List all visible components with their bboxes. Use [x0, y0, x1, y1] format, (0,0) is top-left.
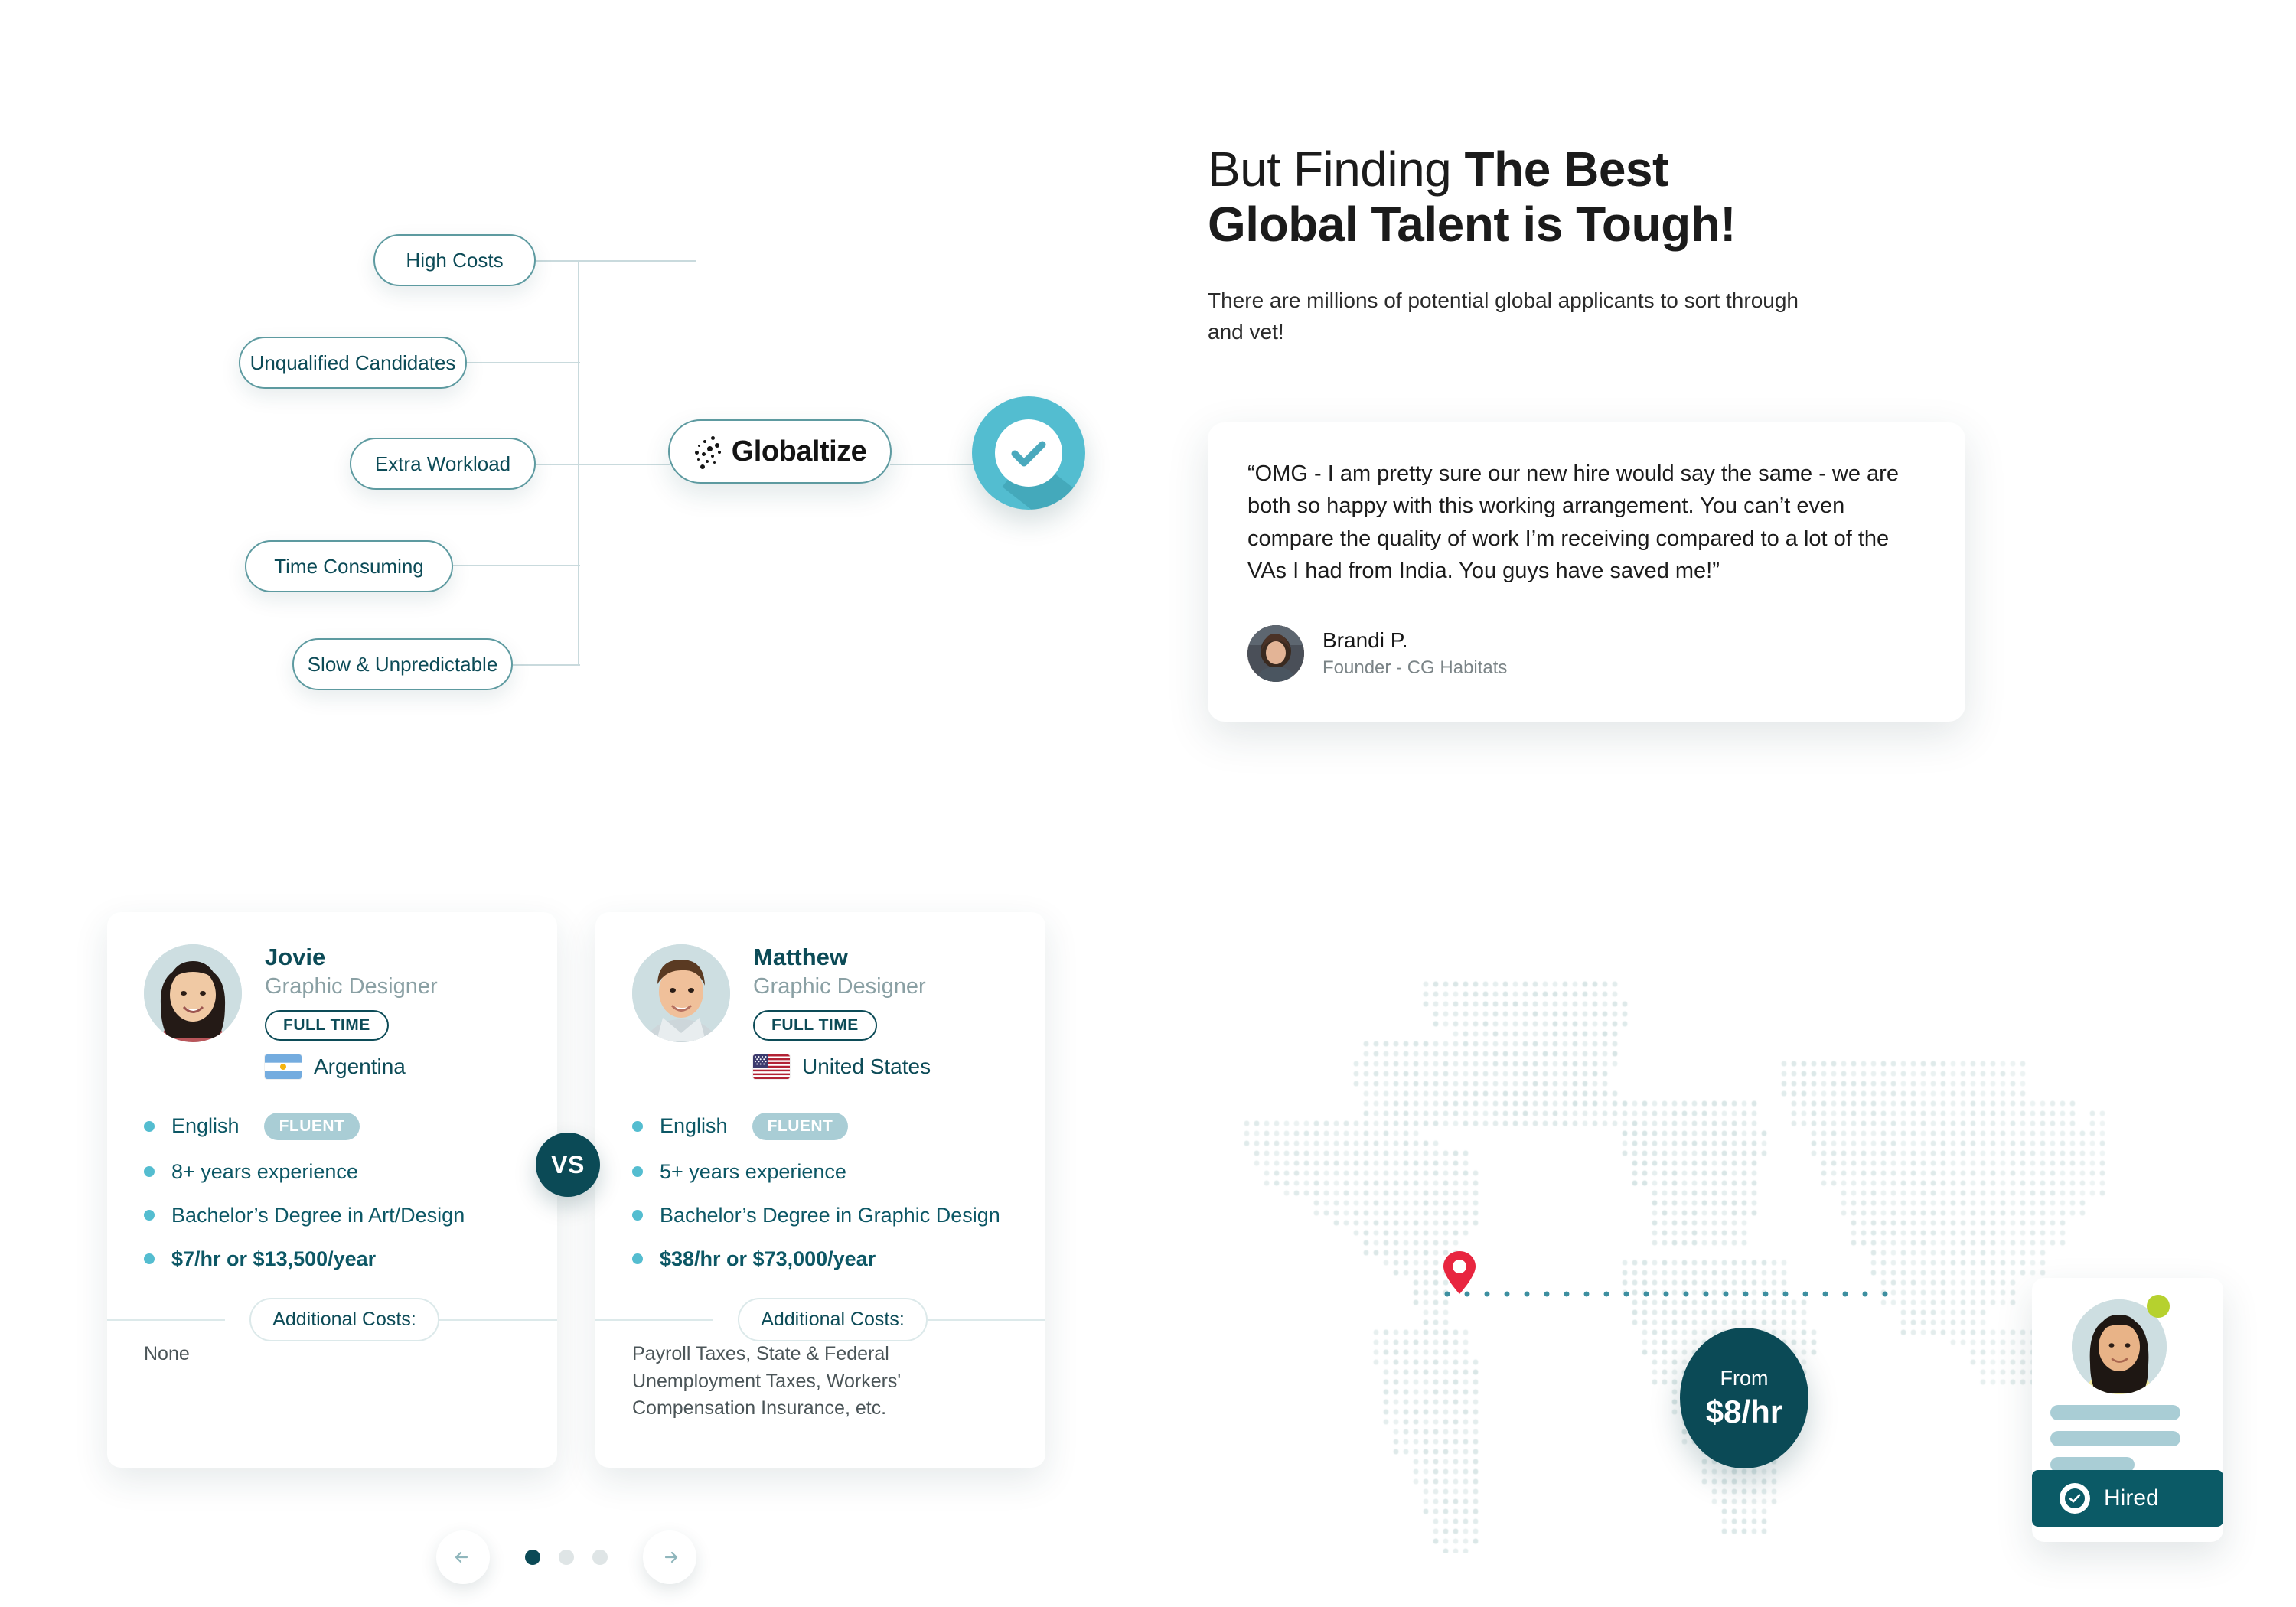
- list-item: $38/hr or $73,000/year: [632, 1247, 1045, 1271]
- hired-candidate-card[interactable]: Hired: [2032, 1278, 2223, 1542]
- page-title: But Finding The Best Global Talent is To…: [1208, 142, 1981, 252]
- additional-costs-divider: Additional Costs:: [595, 1298, 1045, 1341]
- price-from-label: From: [1720, 1367, 1769, 1390]
- dots-cluster-logo-icon: [693, 435, 724, 468]
- list-item: $7/hr or $13,500/year: [144, 1247, 557, 1271]
- employment-type-badge: FULL TIME: [265, 1010, 389, 1041]
- map-pin-icon: [1443, 1250, 1476, 1295]
- connector-line: [890, 464, 974, 465]
- carousel-dots: [525, 1550, 608, 1565]
- education-label: Bachelor’s Degree in Graphic Design: [660, 1204, 1000, 1227]
- bullet-dot-icon: [632, 1210, 643, 1221]
- connection-route-line: [1437, 1290, 1889, 1298]
- testimonial-author-name: Brandi P.: [1322, 628, 1507, 653]
- arrow-left-icon: [450, 1544, 476, 1570]
- versus-badge: VS: [536, 1133, 600, 1197]
- bullet-dot-icon: [632, 1121, 643, 1132]
- world-map-section: From $8/hr: [1194, 941, 2212, 1553]
- additional-costs-body: None: [144, 1341, 527, 1368]
- list-item: EnglishFLUENT: [632, 1113, 1045, 1140]
- problem-node-label: Time Consuming: [274, 555, 424, 579]
- candidate-card-matthew[interactable]: Matthew Graphic Designer FULL TIME: [595, 912, 1045, 1468]
- list-item: Bachelor’s Degree in Art/Design: [144, 1204, 557, 1227]
- problem-node-unqualified-candidates[interactable]: Unqualified Candidates: [239, 337, 467, 389]
- language-label: English: [171, 1114, 240, 1138]
- connector-line: [578, 260, 579, 664]
- connector-line: [513, 664, 580, 666]
- headline-subcopy: There are millions of potential global a…: [1208, 285, 1828, 347]
- flag-united-states-icon: [753, 1054, 790, 1079]
- avatar: [632, 944, 730, 1042]
- bullet-dot-icon: [144, 1166, 155, 1177]
- connector-line: [467, 362, 580, 363]
- hired-status-button[interactable]: Hired: [2032, 1470, 2223, 1527]
- bullet-dot-icon: [144, 1253, 155, 1264]
- connector-line: [536, 260, 696, 262]
- check-circle-icon: [2060, 1483, 2090, 1514]
- headline-bold-2: Global Talent is Tough!: [1208, 197, 1736, 252]
- connector-line: [536, 464, 670, 465]
- list-item: 8+ years experience: [144, 1160, 557, 1184]
- language-level-badge: FLUENT: [264, 1113, 360, 1140]
- headline-plain: But Finding: [1208, 142, 1465, 197]
- bullet-dot-icon: [632, 1166, 643, 1177]
- candidate-country: Argentina: [265, 1054, 438, 1079]
- placeholder-line: [2050, 1431, 2180, 1446]
- carousel-dot-3[interactable]: [592, 1550, 608, 1565]
- brand-node-globaltize[interactable]: Globaltize: [668, 419, 892, 484]
- candidate-role: Graphic Designer: [753, 975, 931, 999]
- problem-node-label: Slow & Unpredictable: [308, 653, 498, 676]
- additional-costs-badge: Additional Costs:: [738, 1298, 928, 1341]
- carousel-controls: [436, 1523, 696, 1592]
- headline-block: But Finding The Best Global Talent is To…: [1208, 142, 1981, 348]
- list-item: Bachelor’s Degree in Graphic Design: [632, 1204, 1045, 1227]
- candidate-header: Matthew Graphic Designer FULL TIME: [595, 912, 1045, 1079]
- problem-node-label: High Costs: [406, 249, 503, 272]
- connector-line: [453, 565, 580, 566]
- bullet-dot-icon: [144, 1121, 155, 1132]
- candidate-name: Matthew: [753, 944, 931, 970]
- online-status-dot: [2147, 1295, 2170, 1318]
- employment-type-badge: FULL TIME: [753, 1010, 877, 1041]
- experience-label: 8+ years experience: [171, 1160, 358, 1184]
- avatar: [1247, 625, 1304, 682]
- price-badge: From $8/hr: [1680, 1328, 1808, 1468]
- problem-node-slow-unpredictable[interactable]: Slow & Unpredictable: [292, 638, 513, 690]
- additional-costs-divider: Additional Costs:: [107, 1298, 557, 1341]
- candidate-attributes: EnglishFLUENT 5+ years experience Bachel…: [595, 1113, 1045, 1271]
- experience-label: 5+ years experience: [660, 1160, 846, 1184]
- problem-solution-diagram: High Costs Unqualified Candidates Extra …: [0, 0, 1163, 842]
- candidate-name: Jovie: [265, 944, 438, 970]
- avatar: [144, 944, 242, 1042]
- candidate-country: United States: [753, 1054, 931, 1079]
- problem-node-label: Unqualified Candidates: [250, 351, 456, 375]
- problem-node-extra-workload[interactable]: Extra Workload: [350, 438, 536, 490]
- country-label: United States: [802, 1054, 931, 1079]
- testimonial-author: Brandi P. Founder - CG Habitats: [1247, 625, 1926, 682]
- candidate-card-jovie[interactable]: Jovie Graphic Designer FULL TIME Argenti…: [107, 912, 557, 1468]
- carousel-prev-button[interactable]: [436, 1530, 490, 1584]
- hired-status-label: Hired: [2104, 1485, 2159, 1511]
- problem-node-time-consuming[interactable]: Time Consuming: [245, 540, 453, 592]
- testimonial-quote: “OMG - I am pretty sure our new hire wou…: [1247, 458, 1926, 587]
- brand-label: Globaltize: [732, 435, 867, 468]
- rate-label: $7/hr or $13,500/year: [171, 1247, 376, 1271]
- testimonial-author-role: Founder - CG Habitats: [1322, 657, 1507, 679]
- list-item: 5+ years experience: [632, 1160, 1045, 1184]
- language-level-badge: FLUENT: [752, 1113, 849, 1140]
- testimonial-card: “OMG - I am pretty sure our new hire wou…: [1208, 422, 1965, 722]
- candidate-role: Graphic Designer: [265, 975, 438, 999]
- additional-costs-badge: Additional Costs:: [249, 1298, 439, 1341]
- list-item: EnglishFLUENT: [144, 1113, 557, 1140]
- education-label: Bachelor’s Degree in Art/Design: [171, 1204, 465, 1227]
- problem-node-high-costs[interactable]: High Costs: [373, 234, 536, 286]
- additional-costs-body: Payroll Taxes, State & Federal Unemploym…: [632, 1341, 1015, 1423]
- check-circle-icon: [972, 396, 1085, 510]
- placeholder-line: [2050, 1405, 2180, 1420]
- candidate-header: Jovie Graphic Designer FULL TIME Argenti…: [107, 912, 557, 1079]
- rate-label: $38/hr or $73,000/year: [660, 1247, 876, 1271]
- problem-node-label: Extra Workload: [375, 452, 510, 476]
- carousel-dot-2[interactable]: [559, 1550, 574, 1565]
- candidate-attributes: EnglishFLUENT 8+ years experience Bachel…: [107, 1113, 557, 1271]
- carousel-dot-1[interactable]: [525, 1550, 540, 1565]
- price-value: $8/hr: [1706, 1393, 1782, 1430]
- country-label: Argentina: [314, 1054, 406, 1079]
- carousel-next-button[interactable]: [643, 1530, 696, 1584]
- bullet-dot-icon: [144, 1210, 155, 1221]
- flag-argentina-icon: [265, 1054, 302, 1079]
- headline-bold-1: The Best: [1465, 142, 1668, 197]
- arrow-right-icon: [657, 1544, 683, 1570]
- language-label: English: [660, 1114, 728, 1138]
- bullet-dot-icon: [632, 1253, 643, 1264]
